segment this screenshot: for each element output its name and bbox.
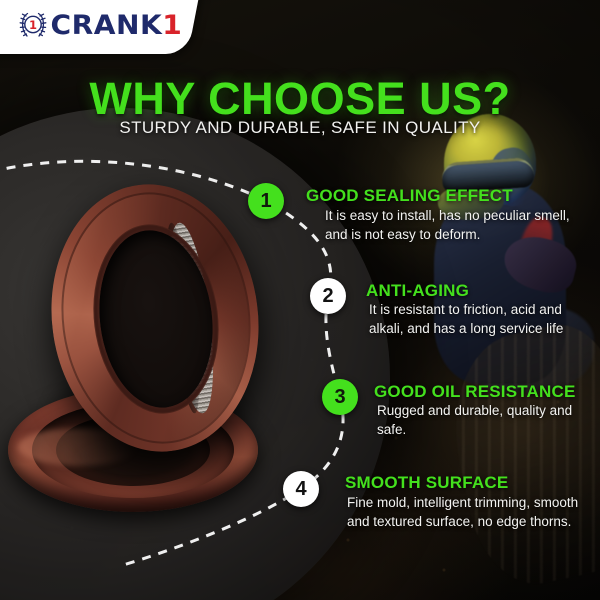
feature-heading-1: GOOD SEALING EFFECT [306, 186, 513, 206]
feature-heading-4: SMOOTH SURFACE [345, 473, 508, 493]
laurel-wreath-icon: 1 [16, 8, 50, 42]
brand-name-main: CRANK [50, 10, 162, 41]
feature-heading-3: GOOD OIL RESISTANCE [374, 382, 576, 402]
feature-bullet-4: 4 [283, 471, 319, 507]
feature-bullet-1: 1 [248, 183, 284, 219]
feature-body-1: It is easy to install, has no peculiar s… [325, 206, 575, 244]
brand-logo-banner[interactable]: 1 CRANK1 [0, 0, 200, 54]
feature-bullet-2: 2 [310, 278, 346, 314]
product-image-oil-seals [4, 178, 272, 522]
feature-body-3: Rugged and durable, quality and safe. [377, 401, 592, 439]
feature-body-2: It is resistant to friction, acid and al… [369, 300, 597, 338]
wreath-number: 1 [29, 18, 37, 32]
brand-wordmark: CRANK1 [50, 12, 182, 39]
promotional-banner: 1 CRANK1 WHY CHOOSE US? STURDY AND DURAB… [0, 0, 600, 600]
brand-name-suffix: 1 [162, 10, 182, 41]
feature-body-4: Fine mold, intelligent trimming, smooth … [347, 493, 579, 531]
feature-bullet-3: 3 [322, 379, 358, 415]
page-subtitle: STURDY AND DURABLE, SAFE IN QUALITY [0, 118, 600, 138]
feature-heading-2: ANTI-AGING [366, 281, 469, 301]
